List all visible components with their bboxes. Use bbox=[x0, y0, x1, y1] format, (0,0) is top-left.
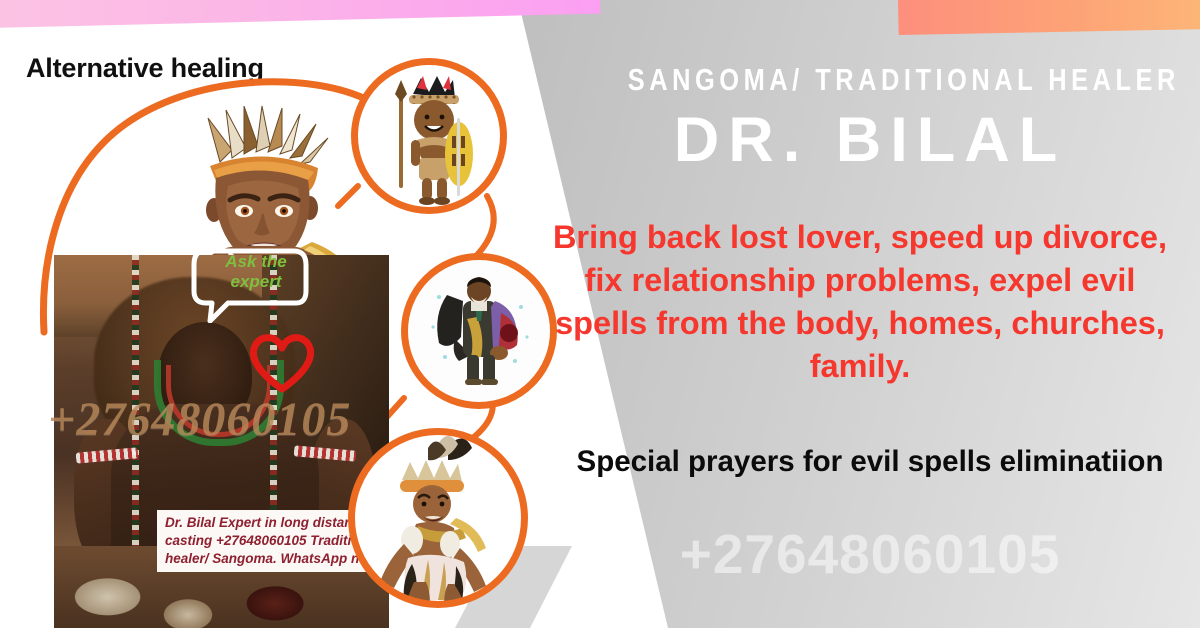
right-text-column: SANGOMA/ TRADITIONAL HEALER DR. BILAL Br… bbox=[520, 0, 1200, 628]
phone-number-watermark: +27648060105 bbox=[540, 522, 1200, 586]
dancer-illustration bbox=[352, 432, 524, 604]
special-offer-text: Special prayers for evil spells eliminat… bbox=[560, 442, 1180, 481]
speech-bubble-text: Ask the expert bbox=[206, 252, 306, 291]
circle-thumb-warrior bbox=[355, 62, 503, 210]
zulu-warrior-illustration bbox=[355, 62, 503, 210]
brand-name: DR. BILAL bbox=[560, 104, 1180, 176]
caption-line-2: casting +27648060105 Traditio bbox=[165, 532, 383, 550]
caption-line-1: Dr. Bilal Expert in long distan bbox=[165, 514, 383, 532]
subtitle-kicker: SANGOMA/ TRADITIONAL HEALER bbox=[628, 62, 1136, 98]
heart-icon bbox=[246, 331, 318, 395]
left-collage-column: Alternative healing bbox=[0, 0, 520, 628]
photo-phone-watermark: +27648060105 bbox=[48, 392, 351, 447]
poster-canvas: Alternative healing bbox=[0, 0, 1200, 628]
caption-line-3: healer/ Sangoma. WhatsApp n bbox=[165, 550, 383, 568]
circle-thumb-dancer bbox=[352, 432, 524, 604]
services-text: Bring back lost lover, speed up divorce,… bbox=[540, 216, 1180, 388]
